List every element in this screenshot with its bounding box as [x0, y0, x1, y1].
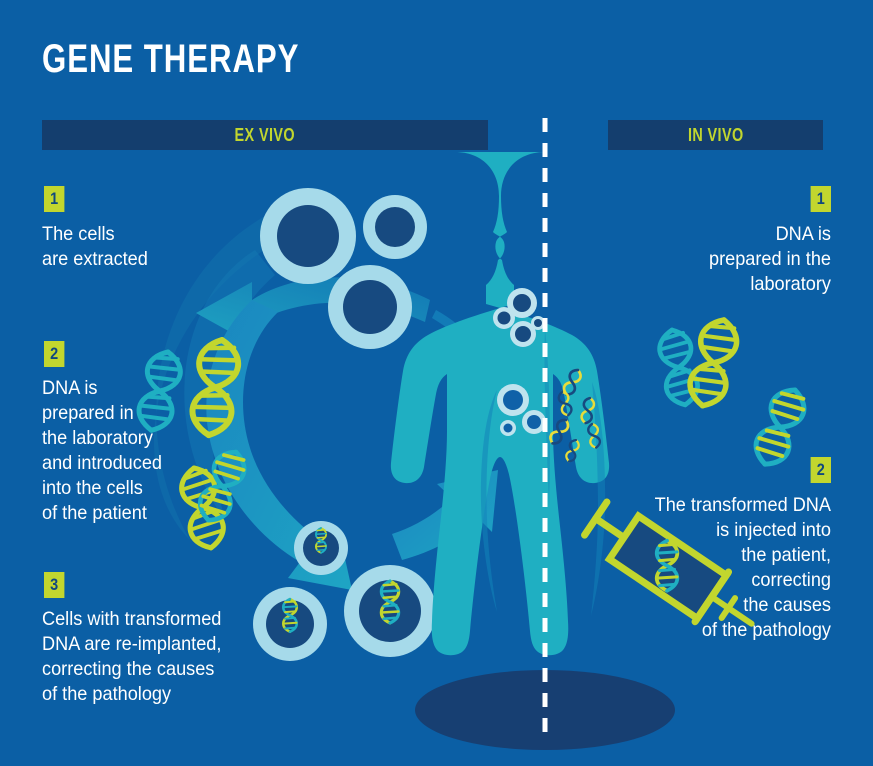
step-badge-invivo-2: 2: [811, 457, 831, 483]
step-badge-exvivo-2: 2: [44, 341, 64, 367]
section-header-ex-vivo-label: EX VIVO: [235, 125, 295, 146]
cell-large-empty: [260, 188, 356, 284]
cell-large-with-dna: [344, 565, 436, 657]
cell-medium-empty: [328, 265, 412, 349]
step-text-invivo-2: The transformed DNA is injected into the…: [599, 493, 832, 643]
infographic-canvas: GENE THERAPY EX VIVO IN VIVO 1 The cells…: [0, 0, 873, 766]
step-text-exvivo-3: Cells with transformed DNA are re-implan…: [42, 607, 312, 707]
section-header-ex-vivo: EX VIVO: [42, 120, 488, 150]
step-text-invivo-1: DNA is prepared in the laboratory: [617, 222, 831, 297]
step-text-exvivo-1: The cells are extracted: [42, 222, 265, 272]
dna-helix-mixed-invivo: [750, 384, 811, 471]
step-badge-invivo-1: 1: [811, 186, 831, 212]
section-header-in-vivo: IN VIVO: [608, 120, 823, 150]
step-text-exvivo-2: DNA is prepared in the laboratory and in…: [42, 376, 256, 526]
page-title: GENE THERAPY: [42, 38, 299, 80]
cell-small-with-dna: [294, 521, 348, 575]
step-badge-exvivo-1: 1: [44, 186, 64, 212]
cell-small-empty: [363, 195, 427, 259]
section-header-in-vivo-label: IN VIVO: [688, 125, 744, 146]
dna-helix-lime-invivo: [685, 316, 741, 410]
step-badge-exvivo-3: 3: [44, 572, 64, 598]
